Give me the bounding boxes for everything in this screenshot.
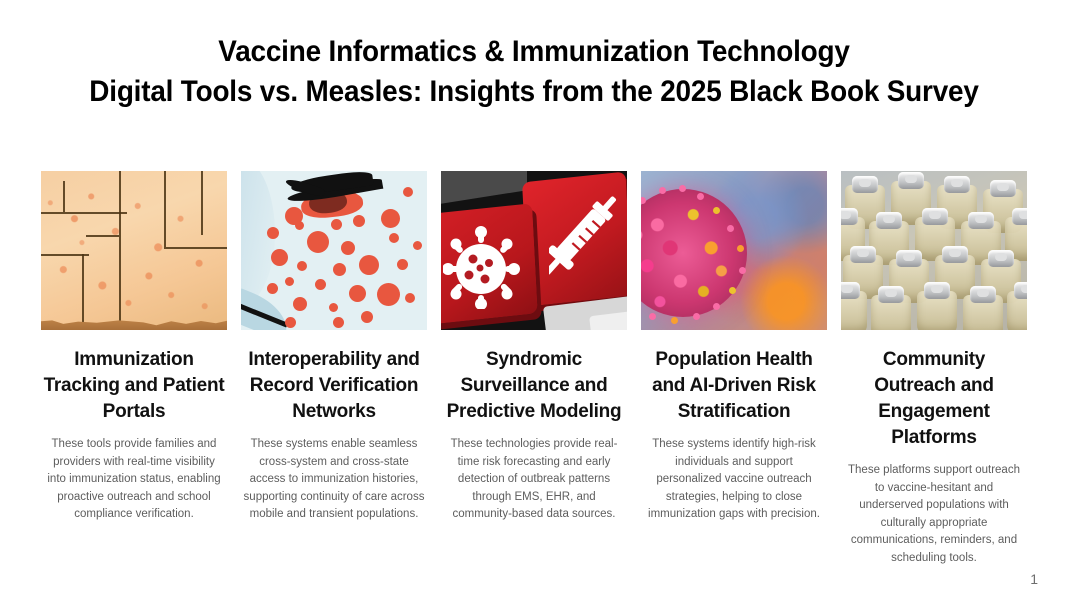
measles-rash-face-illustration-image: [241, 171, 427, 330]
title-line-2: Digital Tools vs. Measles: Insights from…: [37, 72, 1030, 112]
column-immunization-tracking: Immunization Tracking and Patient Portal…: [41, 171, 227, 567]
column-body-text: These tools provide families and provide…: [43, 436, 225, 524]
column-body-text: These systems enable seamless cross-syst…: [243, 436, 425, 524]
page-number: 1: [1030, 571, 1038, 587]
red-keyboard-keys-virus-syringe-image: [441, 171, 627, 330]
vaccine-vials-tray-image: [841, 171, 1027, 330]
column-heading: Community Outreach and Engagement Platfo…: [841, 347, 1027, 451]
column-interoperability: Interoperability and Record Verification…: [241, 171, 427, 567]
content-columns: Immunization Tracking and Patient Portal…: [41, 171, 1027, 567]
column-community-outreach: Community Outreach and Engagement Platfo…: [841, 171, 1027, 567]
syringe-icon: [549, 185, 621, 297]
column-heading: Immunization Tracking and Patient Portal…: [41, 347, 227, 425]
column-syndromic-surveillance: Syndromic Surveillance and Predictive Mo…: [441, 171, 627, 567]
column-body-text: These technologies provide real-time ris…: [443, 436, 625, 524]
column-body-text: These platforms support outreach to vacc…: [843, 462, 1025, 567]
page-title: Vaccine Informatics & Immunization Techn…: [0, 32, 1068, 112]
cracked-us-map-with-measles-spots-image: [41, 171, 227, 330]
column-heading: Syndromic Surveillance and Predictive Mo…: [441, 347, 627, 425]
virus-particle-3d-render-image: [641, 171, 827, 330]
column-heading: Interoperability and Record Verification…: [241, 347, 427, 425]
virus-icon: [443, 225, 521, 309]
column-body-text: These systems identify high-risk individ…: [643, 436, 825, 524]
title-line-1: Vaccine Informatics & Immunization Techn…: [37, 32, 1030, 72]
column-population-health: Population Health and AI-Driven Risk Str…: [641, 171, 827, 567]
column-heading: Population Health and AI-Driven Risk Str…: [641, 347, 827, 425]
